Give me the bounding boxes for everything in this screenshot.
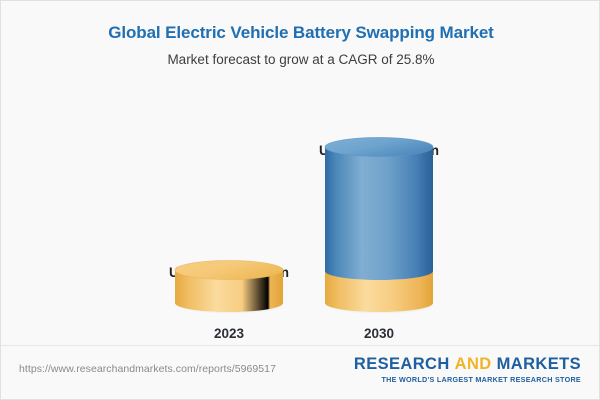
- cylinder-blue-shape: [324, 136, 434, 314]
- cylinder-yellow-shape: [174, 259, 284, 314]
- logo-word-and: AND: [455, 355, 492, 373]
- category-label-2023: 2023: [149, 326, 309, 342]
- brand-logo[interactable]: RESEARCH AND MARKETS THE WORLD'S LARGEST…: [354, 355, 581, 384]
- chart-plot-area: USD 184.98 Million: [1, 89, 600, 344]
- bar-cylinder-2030[interactable]: [324, 136, 434, 314]
- page-title: Global Electric Vehicle Battery Swapping…: [1, 1, 600, 43]
- source-url-link[interactable]: https://www.researchandmarkets.com/repor…: [19, 363, 276, 375]
- chart-card: Global Electric Vehicle Battery Swapping…: [0, 0, 600, 400]
- category-label-2030: 2030: [299, 326, 459, 342]
- logo-wordmark: RESEARCH AND MARKETS: [354, 355, 581, 374]
- logo-word-markets: MARKETS: [497, 355, 581, 373]
- logo-tagline: THE WORLD'S LARGEST MARKET RESEARCH STOR…: [354, 375, 581, 384]
- bar-cylinder-2023[interactable]: [174, 259, 284, 314]
- footer: https://www.researchandmarkets.com/repor…: [1, 345, 599, 399]
- chart-header: Global Electric Vehicle Battery Swapping…: [1, 1, 600, 68]
- logo-word-research: RESEARCH: [354, 355, 450, 373]
- chart-subtitle: Market forecast to grow at a CAGR of 25.…: [1, 43, 600, 68]
